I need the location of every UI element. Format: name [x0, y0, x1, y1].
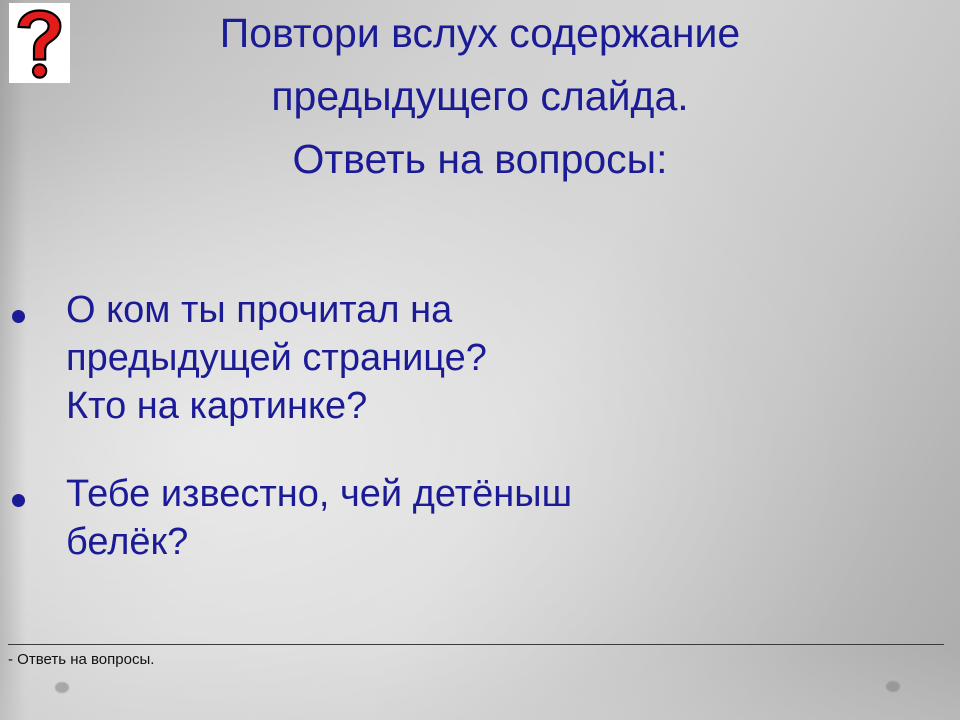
- decorative-dot-right: [886, 681, 900, 692]
- bullet-dot-icon: [12, 494, 25, 507]
- bullet-2-line-2: белёк?: [66, 518, 826, 566]
- bullet-dot-icon: [12, 310, 25, 323]
- question-list: О ком ты прочитал на предыдущей странице…: [0, 286, 940, 566]
- bullet-1-line-1: О ком ты прочитал на: [66, 286, 826, 334]
- list-item: О ком ты прочитал на предыдущей странице…: [0, 286, 940, 430]
- bullet-1-line-2: предыдущей странице?: [66, 334, 826, 382]
- list-item: Тебе известно, чей детёныш белёк?: [0, 470, 940, 566]
- bullet-text-1: О ком ты прочитал на предыдущей странице…: [66, 286, 826, 430]
- decorative-dot-left: [55, 682, 69, 693]
- title-line-1: Повтори вслух содержание: [80, 2, 880, 65]
- bullet-1-line-3: Кто на картинке?: [66, 382, 826, 430]
- title-line-3: Ответь на вопросы:: [80, 128, 880, 191]
- question-mark-image: [9, 3, 70, 83]
- footer-divider: [8, 644, 944, 645]
- slide-canvas: Повтори вслух содержание предыдущего сла…: [0, 0, 960, 720]
- footer-note: - Ответь на вопросы.: [8, 650, 154, 670]
- question-mark-icon: [9, 3, 70, 83]
- slide-title: Повтори вслух содержание предыдущего сла…: [80, 2, 880, 191]
- bullet-text-2: Тебе известно, чей детёныш белёк?: [66, 470, 826, 566]
- title-line-2: предыдущего слайда.: [80, 65, 880, 128]
- bullet-2-line-1: Тебе известно, чей детёныш: [66, 470, 826, 518]
